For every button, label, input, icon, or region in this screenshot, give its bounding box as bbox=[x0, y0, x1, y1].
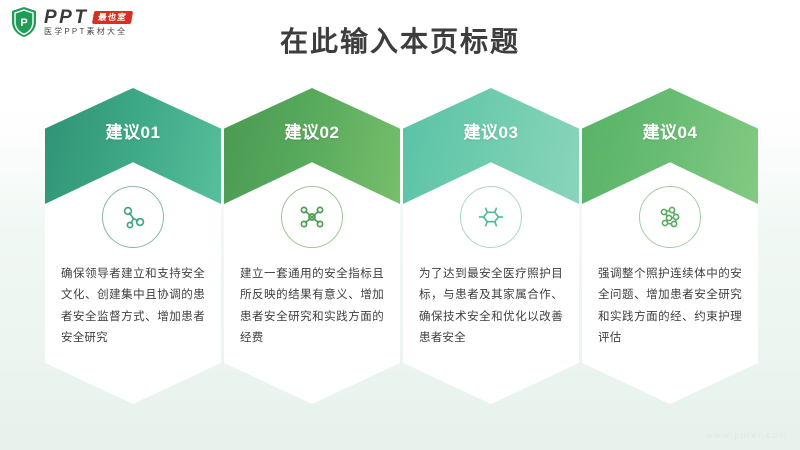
hexagon-card-3[interactable]: 建议03 为了达到最安全医疗照护目标，与患者及其家属合作、确保技术安全和优化以改… bbox=[403, 88, 579, 404]
molecule-icon bbox=[639, 186, 701, 248]
logo-subtitle: 医学PPT素材大全 bbox=[44, 28, 132, 36]
card-body-text: 确保领导者建立和支持安全文化、创建集中且协调的患者安全监督方式、增加患者安全研究 bbox=[61, 264, 205, 349]
shield-letter: P bbox=[20, 17, 27, 29]
brand-logo: P PPT 最也室 医学PPT素材大全 bbox=[10, 6, 132, 38]
logo-badge: 最也室 bbox=[92, 11, 133, 24]
hexagon-card-4[interactable]: 建议04 强调整个照护连续体中的安全问题、增加患者安全研究和实践方面的经、约束护… bbox=[582, 88, 758, 404]
card-header-label: 建议03 bbox=[403, 118, 579, 143]
card-header-label: 建议04 bbox=[582, 118, 758, 143]
card-header-label: 建议02 bbox=[224, 118, 400, 143]
card-body-text: 为了达到最安全医疗照护目标，与患者及其家属合作、确保技术安全和优化以改善患者安全 bbox=[419, 264, 563, 349]
shield-icon: P bbox=[10, 6, 38, 38]
card-body-text: 建立一套通用的安全指标且所反映的结果有意义、增加患者安全研究和实践方面的经费 bbox=[240, 264, 384, 349]
hexagon-columns: 建议01 确保领导者建立和支持安全文化、创建集中且协调的患者安全监督方式、增加患… bbox=[0, 0, 800, 450]
virus-hexagon-icon bbox=[460, 186, 522, 248]
card-body-text: 强调整个照护连续体中的安全问题、增加患者安全研究和实践方面的经、约束护理评估 bbox=[598, 264, 742, 349]
watermark: www.ppter.com bbox=[706, 430, 788, 440]
network-three-node-icon bbox=[102, 186, 164, 248]
card-header-label: 建议01 bbox=[45, 118, 221, 143]
hexagon-card-1[interactable]: 建议01 确保领导者建立和支持安全文化、创建集中且协调的患者安全监督方式、增加患… bbox=[45, 88, 221, 404]
network-hub-icon bbox=[281, 186, 343, 248]
logo-brand-text: PPT bbox=[44, 8, 88, 27]
hexagon-card-2[interactable]: 建议02 建立一套通用的安全指标且所反映的结果有意义、增加患者安全研究和实践方面… bbox=[224, 88, 400, 404]
